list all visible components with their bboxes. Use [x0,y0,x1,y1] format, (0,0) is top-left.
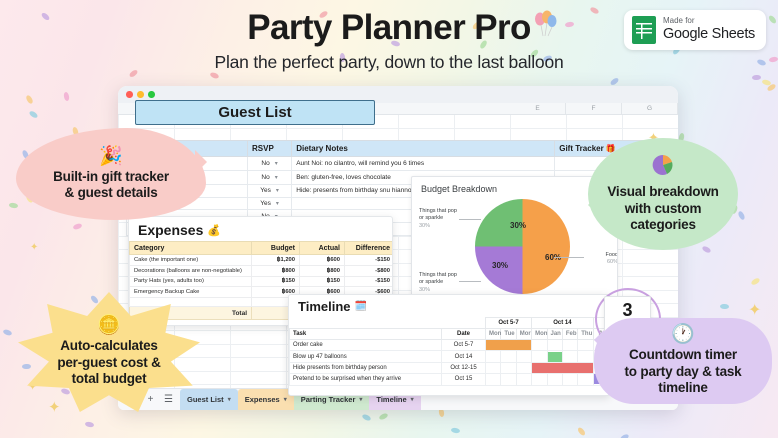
timeline-header-row: Task DateMonTueMorMonJanFebThuA [290,329,609,340]
chevron-down-icon[interactable]: ▾ [359,396,362,403]
chevron-down-icon[interactable]: ▾ [276,188,279,194]
callout-auto-calculates: 🪙 Auto-calculatesper-guest cost &total b… [18,292,200,412]
made-for-google-sheets-badge: Made for Google Sheets [624,10,766,50]
badge-made-for-label: Made for [663,17,755,26]
timeline-day-label: Mon [532,329,547,340]
exp-cell-difference[interactable]: -$150 [345,255,394,266]
timeline-gantt-bar[interactable] [547,351,562,362]
countdown-number: 3 [605,297,650,320]
timeline-table[interactable]: Oct 5-7Oct 14 Task DateMonTueMorMonJanFe… [289,317,609,386]
timeline-cell-date[interactable]: Oct 14 [442,351,486,362]
callout-auto-text: Auto-calculatesper-guest cost &total bud… [57,338,160,387]
chevron-down-icon[interactable]: ▾ [275,161,278,167]
timeline-gantt-cell[interactable] [501,351,516,362]
callout-countdown-timer: 🕐 Countdown timerto party day & tasktime… [594,318,772,404]
chevron-down-icon[interactable]: ▾ [284,396,287,403]
exp-cell-category[interactable]: Cake (the important one) [130,255,252,266]
timeline-gantt-cell[interactable] [516,362,531,373]
callout-gift-tail [195,150,219,174]
timeline-gantt-cell[interactable] [501,374,516,385]
timeline-title: Timeline 🗓️ [289,295,609,317]
guest-cell-rsvp[interactable]: No▾ [248,157,292,171]
maximize-icon[interactable] [148,91,155,98]
exp-cell-category[interactable]: Decorations (balloons are non-negotiable… [130,265,252,276]
timeline-gantt-cell[interactable] [532,340,547,351]
chevron-down-icon[interactable]: ▾ [276,201,279,207]
exp-cell-actual[interactable]: ฿800 [300,265,345,276]
timeline-cell-date[interactable]: Oct 12-15 [442,362,486,373]
pie-slice-label-green: 30% [492,261,508,270]
minimize-icon[interactable] [137,91,144,98]
exp-col-category[interactable]: Category [130,242,252,255]
chevron-down-icon[interactable]: ▾ [411,396,414,403]
callout-countdown-text: Countdown timerto party day & tasktimeli… [625,347,742,396]
budget-breakdown-title: Budget Breakdown [412,177,617,194]
sparkle-icon: ✦ [748,300,761,320]
page-title-text: Party Planner Pro [247,8,531,47]
timeline-gantt-cell[interactable] [547,340,562,351]
timeline-title-text: Timeline [298,299,351,314]
expenses-title-text: Expenses [138,222,203,238]
timeline-cell-date[interactable]: Oct 15 [442,374,486,385]
timeline-gantt-cell[interactable] [486,374,501,385]
timeline-cell-task[interactable]: Hide presents from birthday person [290,362,442,373]
money-bag-icon: 💰 [207,224,221,237]
chevron-down-icon[interactable]: ▾ [275,175,278,181]
timeline-date-group: Oct 5-7 [486,318,532,329]
callout-visual-breakdown: Visual breakdownwith customcategories [588,138,738,250]
sheet-tab-label: Timeline [376,395,406,404]
timeline-gantt-cell[interactable] [532,374,547,385]
timeline-cell-task[interactable]: Order cake [290,340,442,351]
timeline-cell-task[interactable]: Blow up 47 balloons [290,351,442,362]
exp-cell-difference[interactable]: -$150 [345,276,394,287]
callout-gift-text: Built-in gift tracker& guest details [53,169,169,202]
callout-gift-tracker: 🎉 Built-in gift tracker& guest details [16,128,206,220]
exp-cell-difference[interactable]: -$800 [345,265,394,276]
table-row[interactable]: Order cake Oct 5-7 [290,340,609,351]
chevron-down-icon[interactable]: ▾ [228,396,231,403]
close-icon[interactable] [126,91,133,98]
table-row[interactable]: Hide presents from birthday person Oct 1… [290,362,609,373]
guest-col-dietary[interactable]: Dietary Notes [292,141,555,157]
table-row[interactable]: Blow up 47 balloons Oct 14 [290,351,609,362]
timeline-gantt-cell[interactable] [486,362,501,373]
page-title: Party Planner Pro [247,8,531,48]
expenses-header-row: Category Budget Actual Difference [130,242,394,255]
timeline-gantt-cell[interactable] [501,362,516,373]
timeline-day-label: Mon [486,329,501,340]
timeline-group-row: Oct 5-7Oct 14 [290,318,609,329]
timeline-card[interactable]: Timeline 🗓️ Oct 5-7Oct 14 Task DateMonTu… [288,294,610,396]
page-subtitle: Plan the perfect party, down to the last… [0,52,778,73]
table-row[interactable]: Cake (the important one) ฿1,200 ฿600 -$1… [130,255,394,266]
exp-cell-actual[interactable]: ฿600 [300,255,345,266]
calendar-pencil-icon: 🗓️ [355,301,367,312]
guest-col-rsvp[interactable]: RSVP [248,141,292,157]
callout-visual-text: Visual breakdownwith customcategories [607,184,718,233]
timeline-gantt-cell[interactable] [562,351,577,362]
table-row[interactable]: Party Hats (yes, adults too) ฿150 ฿150 -… [130,276,394,287]
timeline-cell-task[interactable]: Pretend to be surprised when they arrive [290,374,442,385]
timeline-gantt-cell[interactable] [486,351,501,362]
timeline-gantt-cell[interactable] [578,374,593,385]
clock-icon: 🕐 [625,325,742,344]
expenses-title: Expenses 💰 [129,217,392,241]
timeline-gantt-cell[interactable] [562,340,577,351]
timeline-day-label: Mor [516,329,531,340]
badge-product-label: Google Sheets [663,26,755,43]
coins-icon: 🪙 [57,316,160,335]
exp-col-difference[interactable]: Difference [345,242,394,255]
timeline-gantt-bar[interactable] [532,362,594,373]
exp-col-actual[interactable]: Actual [300,242,345,255]
sparkle-icon: ✦ [30,242,38,253]
timeline-col-task[interactable]: Task [290,329,442,340]
table-row[interactable]: Decorations (balloons are non-negotiable… [130,265,394,276]
party-popper-icon: 🎉 [53,147,169,166]
timeline-gantt-cell[interactable] [578,351,593,362]
timeline-gantt-cell[interactable] [562,374,577,385]
callout-countdown-tail [584,330,604,350]
timeline-day-label: Feb [562,329,577,340]
pie-chart-icon [652,154,674,176]
timeline-gantt-cell[interactable] [547,374,562,385]
timeline-gantt-cell[interactable] [516,374,531,385]
timeline-gantt-bar[interactable] [486,340,532,351]
exp-cell-budget[interactable]: ฿150 [252,276,300,287]
pie-annotation-food: Food60% [584,252,618,267]
timeline-day-label: Jan [547,329,562,340]
exp-cell-category[interactable]: Party Hats (yes, adults too) [130,276,252,287]
google-sheets-icon [632,16,656,44]
balloons-icon [531,10,557,40]
timeline-gantt-cell[interactable] [532,351,547,362]
guest-list-title: Guest List [135,100,375,125]
guest-cell-rsvp[interactable]: No▾ [248,171,292,185]
guest-cell-dietary[interactable]: Aunt Noi: no cilantro, will remind you 6… [292,157,555,171]
pie-annotation-green: Things that popor sparkle30% [419,272,467,294]
exp-cell-budget[interactable]: ฿800 [252,265,300,276]
exp-cell-actual[interactable]: ฿150 [300,276,345,287]
callout-visual-tail [577,194,599,216]
exp-col-budget[interactable]: Budget [252,242,300,255]
sheet-tab-label: Expenses [245,395,280,404]
timeline-cell-date[interactable]: Oct 5-7 [442,340,486,351]
sheet-tab-label: Parting Tracker [301,395,356,404]
timeline-day-label: Tue [501,329,516,340]
timeline-gantt-cell[interactable] [516,351,531,362]
exp-cell-budget[interactable]: ฿1,200 [252,255,300,266]
guest-cell-rsvp[interactable]: Yes▾ [248,197,292,210]
budget-pie-chart[interactable] [475,199,570,294]
guest-cell-rsvp[interactable]: Yes▾ [248,185,292,198]
timeline-col-date[interactable]: Date [442,329,486,340]
pie-slice-label-purple: 30% [510,221,526,230]
sheet-tab-expenses[interactable]: Expenses ▾ [238,389,294,411]
table-row[interactable]: Pretend to be surprised when they arrive… [290,374,609,385]
timeline-date-group: Oct 14 [532,318,594,329]
